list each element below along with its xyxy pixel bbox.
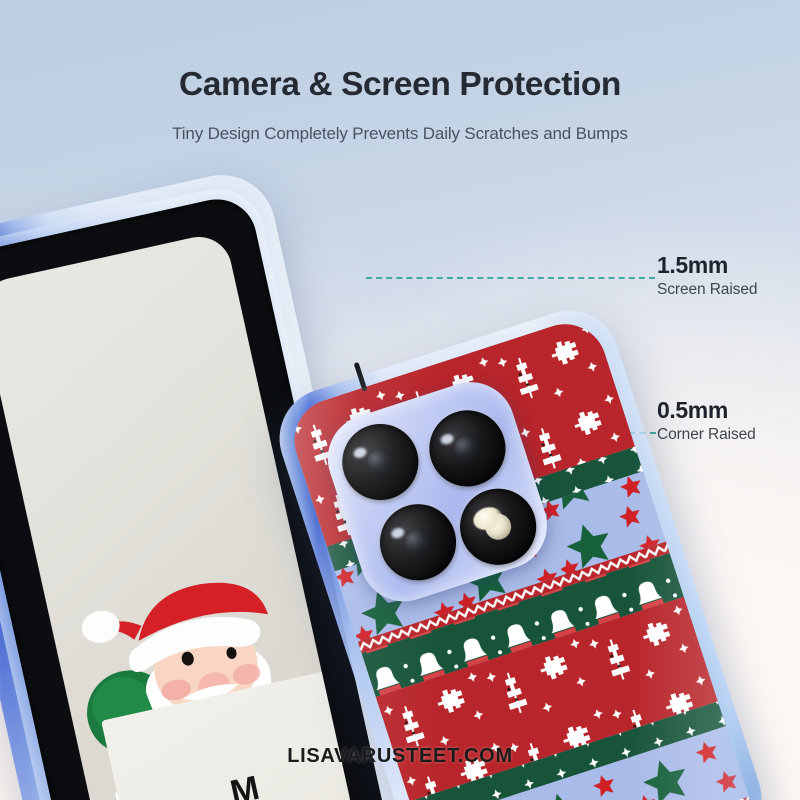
lens-glint [353,446,368,460]
callout-value: 1.5mm [657,253,757,278]
callout-value: 0.5mm [657,398,756,423]
callout-corner-raised: 0.5mm Corner Raised [657,398,756,444]
lens-glint [440,433,455,447]
callout-label: Screen Raised [657,280,757,299]
callout-screen-raised: 1.5mm Screen Raised [657,253,757,299]
camera-lens-2 [420,401,516,497]
callout-label: Corner Raised [657,425,756,444]
site-watermark: LISAVARUSTEET.COM [0,745,800,768]
leader-line-screen-raised [366,277,655,279]
camera-lens-3 [370,494,466,590]
page-subtitle: Tiny Design Completely Prevents Daily Sc… [0,124,800,144]
greeting-line-1: M [226,763,264,800]
lens-glint [390,526,405,540]
camera-lens-1 [332,414,428,510]
page-title: Camera & Screen Protection [0,66,800,104]
